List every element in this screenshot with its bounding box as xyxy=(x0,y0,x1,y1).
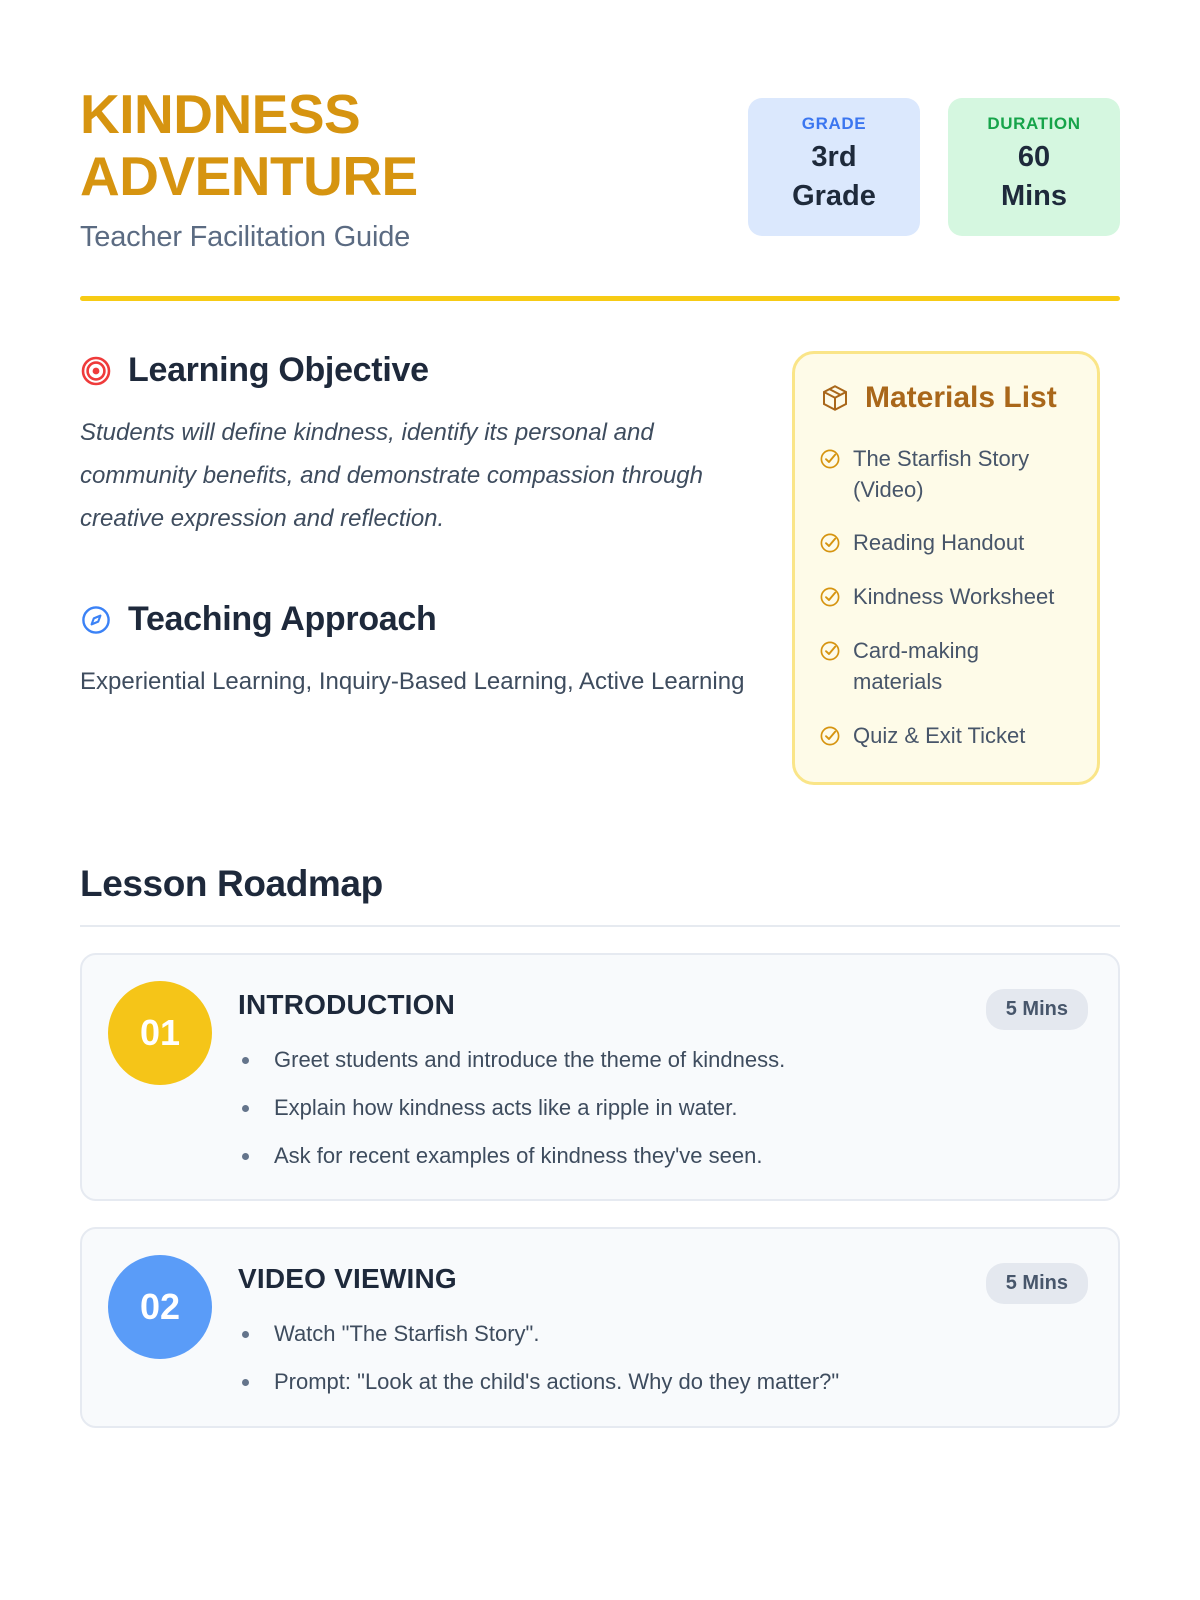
roadmap-divider xyxy=(80,925,1120,927)
step-number-badge: 02 xyxy=(108,1255,212,1359)
step-header-row: INTRODUCTION 5 Mins xyxy=(238,989,1088,1030)
check-circle-icon xyxy=(819,586,841,613)
check-circle-icon xyxy=(819,448,841,475)
step-duration-badge: 5 Mins xyxy=(986,989,1088,1030)
package-icon xyxy=(819,382,851,414)
step-bullet-list: Greet students and introduce the theme o… xyxy=(238,1044,1088,1172)
step-bullet-list: Watch "The Starfish Story". Prompt: "Loo… xyxy=(238,1318,1088,1398)
compass-icon xyxy=(80,604,112,636)
step-content: VIDEO VIEWING 5 Mins Watch "The Starfish… xyxy=(238,1255,1088,1398)
step-title: INTRODUCTION xyxy=(238,989,455,1021)
target-icon xyxy=(80,355,112,387)
materials-panel: Materials List The Starfish Story (Video… xyxy=(792,351,1100,785)
list-item: Quiz & Exit Ticket xyxy=(819,720,1073,752)
side-column: Materials List The Starfish Story (Video… xyxy=(792,351,1100,785)
materials-heading-row: Materials List xyxy=(819,380,1073,417)
step-duration-badge: 5 Mins xyxy=(986,1263,1088,1304)
step-content: INTRODUCTION 5 Mins Greet students and i… xyxy=(238,981,1088,1172)
material-label: Reading Handout xyxy=(853,527,1024,558)
duration-badge: DURATION 60 Mins xyxy=(948,98,1120,236)
document-header: KINDNESS ADVENTURE Teacher Facilitation … xyxy=(80,80,1120,254)
check-circle-icon xyxy=(819,725,841,752)
teaching-approach-title: Teaching Approach xyxy=(128,600,437,639)
learning-objective-text: Students will define kindness, identify … xyxy=(80,412,750,540)
header-badges: GRADE 3rd Grade DURATION 60 Mins xyxy=(748,80,1120,236)
grade-badge: GRADE 3rd Grade xyxy=(748,98,920,236)
teaching-approach-text: Experiential Learning, Inquiry-Based Lea… xyxy=(80,661,750,704)
body-content: Learning Objective Students will define … xyxy=(80,351,1120,785)
lesson-plan-page: KINDNESS ADVENTURE Teacher Facilitation … xyxy=(0,0,1200,1600)
lesson-roadmap-section: Lesson Roadmap 01 INTRODUCTION 5 Mins Gr… xyxy=(80,863,1120,1428)
step-title: VIDEO VIEWING xyxy=(238,1263,457,1295)
check-circle-icon xyxy=(819,532,841,559)
step-number-badge: 01 xyxy=(108,981,212,1085)
materials-list: The Starfish Story (Video) Reading Hando… xyxy=(819,443,1073,752)
duration-badge-value: 60 Mins xyxy=(984,138,1084,216)
learning-objective-heading-row: Learning Objective xyxy=(80,351,750,390)
material-label: Quiz & Exit Ticket xyxy=(853,720,1025,751)
page-title: KINDNESS ADVENTURE xyxy=(80,84,510,207)
material-label: Card-making materials xyxy=(853,635,1073,697)
teaching-approach-section: Teaching Approach Experiential Learning,… xyxy=(80,600,750,704)
step-bullet: Prompt: "Look at the child's actions. Wh… xyxy=(262,1366,1088,1398)
list-item: Reading Handout xyxy=(819,527,1073,559)
step-bullet: Watch "The Starfish Story". xyxy=(262,1318,1088,1350)
materials-title: Materials List xyxy=(865,380,1057,417)
check-circle-icon xyxy=(819,640,841,667)
list-item: Card-making materials xyxy=(819,635,1073,697)
step-bullet: Explain how kindness acts like a ripple … xyxy=(262,1092,1088,1124)
step-bullet: Greet students and introduce the theme o… xyxy=(262,1044,1088,1076)
page-subtitle: Teacher Facilitation Guide xyxy=(80,221,510,254)
learning-objective-section: Learning Objective Students will define … xyxy=(80,351,750,540)
roadmap-step-card: 02 VIDEO VIEWING 5 Mins Watch "The Starf… xyxy=(80,1227,1120,1428)
main-column: Learning Objective Students will define … xyxy=(80,351,750,785)
roadmap-title: Lesson Roadmap xyxy=(80,863,1120,905)
step-header-row: VIDEO VIEWING 5 Mins xyxy=(238,1263,1088,1304)
list-item: Kindness Worksheet xyxy=(819,581,1073,613)
roadmap-step-card: 01 INTRODUCTION 5 Mins Greet students an… xyxy=(80,953,1120,1202)
teaching-approach-heading-row: Teaching Approach xyxy=(80,600,750,639)
learning-objective-title: Learning Objective xyxy=(128,351,429,390)
material-label: Kindness Worksheet xyxy=(853,581,1054,612)
header-divider xyxy=(80,296,1120,301)
material-label: The Starfish Story (Video) xyxy=(853,443,1073,505)
duration-badge-label: DURATION xyxy=(958,114,1110,134)
title-block: KINDNESS ADVENTURE Teacher Facilitation … xyxy=(80,80,510,254)
grade-badge-value: 3rd Grade xyxy=(784,138,884,216)
grade-badge-label: GRADE xyxy=(758,114,910,134)
step-bullet: Ask for recent examples of kindness they… xyxy=(262,1140,1088,1172)
list-item: The Starfish Story (Video) xyxy=(819,443,1073,505)
